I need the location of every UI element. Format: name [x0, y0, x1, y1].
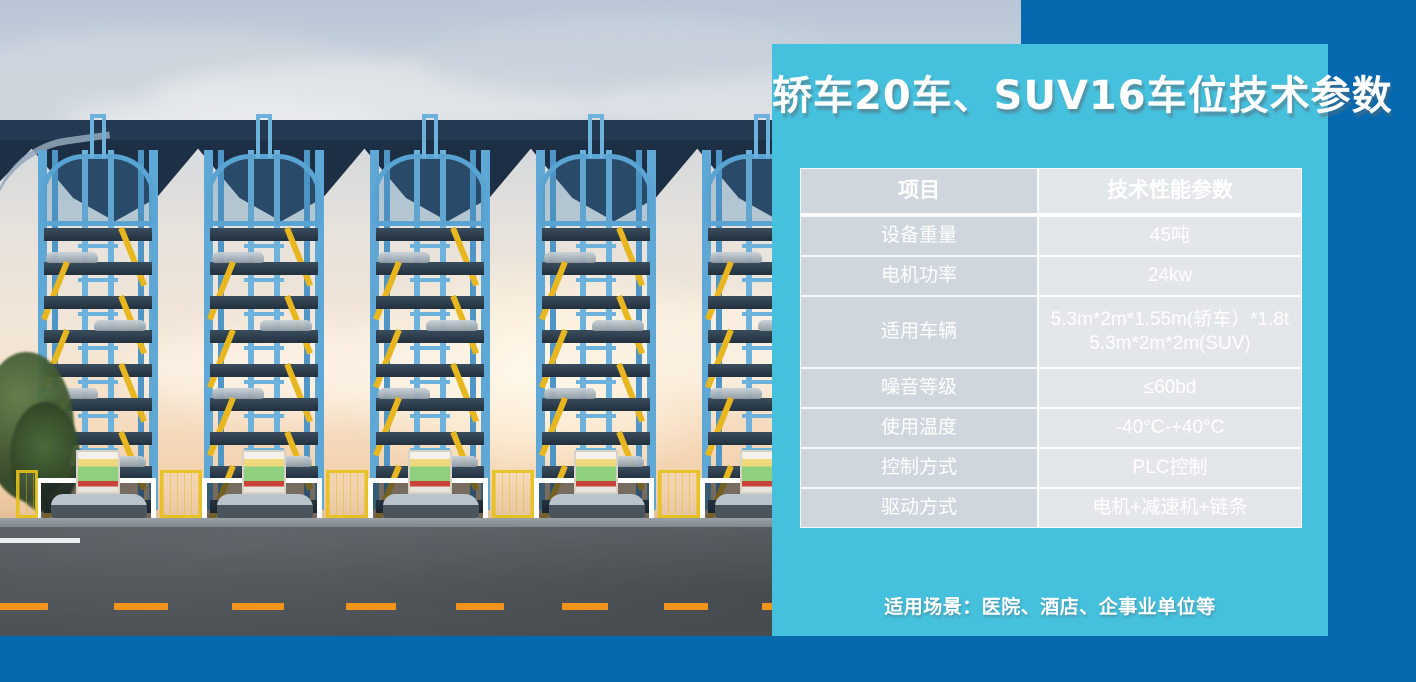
lane-dash	[0, 603, 48, 610]
spec-value-cell: -40°C-+40°C	[1038, 408, 1302, 448]
parking-pallet	[542, 296, 650, 309]
lane-dash	[664, 603, 708, 610]
tower-ladder-rung	[576, 380, 616, 384]
tower-ladder-rung	[576, 312, 616, 316]
parked-car	[544, 388, 596, 399]
parking-pallet	[210, 432, 318, 445]
application-scenarios-note: 适用场景：医院、酒店、企事业单位等	[772, 592, 1328, 619]
entering-car	[217, 494, 313, 518]
table-row: 适用车辆5.3m*2m*1.55m(轿车）*1.8t5.3m*2m*2m(SUV…	[800, 296, 1302, 368]
parked-car	[710, 252, 762, 263]
tower-ladder-rung	[78, 414, 118, 418]
lane-dash	[456, 603, 504, 610]
tower-ladder-rung	[244, 278, 284, 282]
parked-car	[544, 252, 596, 263]
parked-car	[46, 252, 98, 263]
tower-ladder-rung	[244, 312, 284, 316]
spec-value-cell: 5.3m*2m*1.55m(轿车）*1.8t5.3m*2m*2m(SUV)	[1038, 296, 1302, 368]
spec-value-cell: ≤60bd	[1038, 368, 1302, 408]
parking-pallet	[44, 228, 152, 241]
tower-ladder-rung	[410, 380, 450, 384]
spec-value-cell: 24kw	[1038, 256, 1302, 296]
parking-pallet	[376, 296, 484, 309]
bottom-blue-bar	[0, 636, 1416, 682]
tower-ladder-rung	[78, 244, 118, 248]
spec-table-body: 设备重量45吨电机功率24kw适用车辆5.3m*2m*1.55m(轿车）*1.8…	[800, 216, 1302, 528]
parked-car	[710, 388, 762, 399]
tower-signboard	[242, 450, 286, 494]
table-row: 驱动方式电机+减速机+链条	[800, 488, 1302, 528]
entering-car	[51, 494, 147, 518]
parking-pallet	[542, 432, 650, 445]
table-row: 设备重量45吨	[800, 216, 1302, 256]
lane-dash	[232, 603, 284, 610]
tower-ladder-rung	[78, 346, 118, 350]
parking-pallet	[44, 296, 152, 309]
table-header-row: 项目 技术性能参数	[800, 168, 1302, 216]
parked-car	[260, 320, 312, 331]
spec-item-cell: 使用温度	[800, 408, 1038, 448]
safety-fence	[160, 470, 202, 518]
table-row: 噪音等级≤60bd	[800, 368, 1302, 408]
spec-item-cell: 驱动方式	[800, 488, 1038, 528]
parking-pallet	[376, 364, 484, 377]
parking-pallet	[210, 364, 318, 377]
spec-item-cell: 电机功率	[800, 256, 1038, 296]
tower-ladder-rung	[410, 414, 450, 418]
page-title: 轿车20车、SUV16车位技术参数	[772, 76, 1328, 116]
tower-ladder-rung	[244, 380, 284, 384]
safety-fence	[658, 470, 700, 518]
parked-car	[212, 252, 264, 263]
tower-ladder-rung	[410, 312, 450, 316]
tower-ladder-rung	[244, 414, 284, 418]
spec-item-cell: 控制方式	[800, 448, 1038, 488]
tower-ladder-rung	[78, 312, 118, 316]
tower-ladder-rung	[410, 244, 450, 248]
tower-mast	[588, 114, 604, 158]
tower-mast	[256, 114, 272, 158]
column-header-item: 项目	[800, 168, 1038, 216]
spec-item-cell: 噪音等级	[800, 368, 1038, 408]
tower-signboard	[76, 450, 120, 494]
tower-mast	[754, 114, 770, 158]
parking-pallet	[210, 296, 318, 309]
tower-mast	[422, 114, 438, 158]
tower-signboard	[408, 450, 452, 494]
tower-ladder-rung	[576, 346, 616, 350]
road-white-marking	[0, 538, 80, 543]
table-row: 使用温度-40°C-+40°C	[800, 408, 1302, 448]
tower-ladder-rung	[410, 278, 450, 282]
parking-pallet	[376, 432, 484, 445]
spec-value-cell: 电机+减速机+链条	[1038, 488, 1302, 528]
spec-card: 轿车20车、SUV16车位技术参数 项目 技术性能参数 设备重量45吨电机功率2…	[772, 44, 1328, 636]
table-row: 控制方式PLC控制	[800, 448, 1302, 488]
parked-car	[212, 388, 264, 399]
spec-value-line: 5.3m*2m*2m(SUV)	[1039, 332, 1301, 356]
parking-pallet	[376, 228, 484, 241]
parked-car	[94, 320, 146, 331]
table-row: 电机功率24kw	[800, 256, 1302, 296]
parked-car	[592, 320, 644, 331]
tower-head-arch	[40, 154, 156, 226]
lane-dash	[114, 603, 168, 610]
lane-dash	[562, 603, 608, 610]
spec-item-cell: 设备重量	[800, 216, 1038, 256]
safety-fence	[326, 470, 368, 518]
tower-ladder-rung	[410, 346, 450, 350]
parking-pallet	[542, 228, 650, 241]
lane-dash	[346, 603, 396, 610]
tower-mast	[90, 114, 106, 158]
spec-value-cell: 45吨	[1038, 216, 1302, 256]
entering-car	[549, 494, 645, 518]
spec-item-cell: 适用车辆	[800, 296, 1038, 368]
tower-ladder-rung	[576, 278, 616, 282]
tower-ladder-rung	[78, 278, 118, 282]
column-header-value: 技术性能参数	[1038, 168, 1302, 216]
tower-ladder-rung	[576, 414, 616, 418]
parking-pallet	[210, 228, 318, 241]
tower-ladder-rung	[244, 346, 284, 350]
parked-car	[426, 320, 478, 331]
poster-stage: 轿车20车、SUV16车位技术参数 项目 技术性能参数 设备重量45吨电机功率2…	[0, 0, 1416, 682]
entering-car	[383, 494, 479, 518]
safety-fence	[492, 470, 534, 518]
tower-head-arch	[206, 154, 322, 226]
spec-table: 项目 技术性能参数 设备重量45吨电机功率24kw适用车辆5.3m*2m*1.5…	[800, 168, 1302, 528]
spec-value-cell: PLC控制	[1038, 448, 1302, 488]
tower-signboard	[574, 450, 618, 494]
parked-car	[378, 252, 430, 263]
safety-fence	[16, 470, 38, 518]
tower-ladder-rung	[78, 380, 118, 384]
tower-ladder-rung	[576, 244, 616, 248]
parking-pallet	[542, 364, 650, 377]
parked-car	[378, 388, 430, 399]
spec-value-line: 5.3m*2m*1.55m(轿车）*1.8t	[1039, 308, 1301, 332]
tower-head-arch	[372, 154, 488, 226]
tower-ladder-rung	[244, 244, 284, 248]
tower-head-arch	[538, 154, 654, 226]
